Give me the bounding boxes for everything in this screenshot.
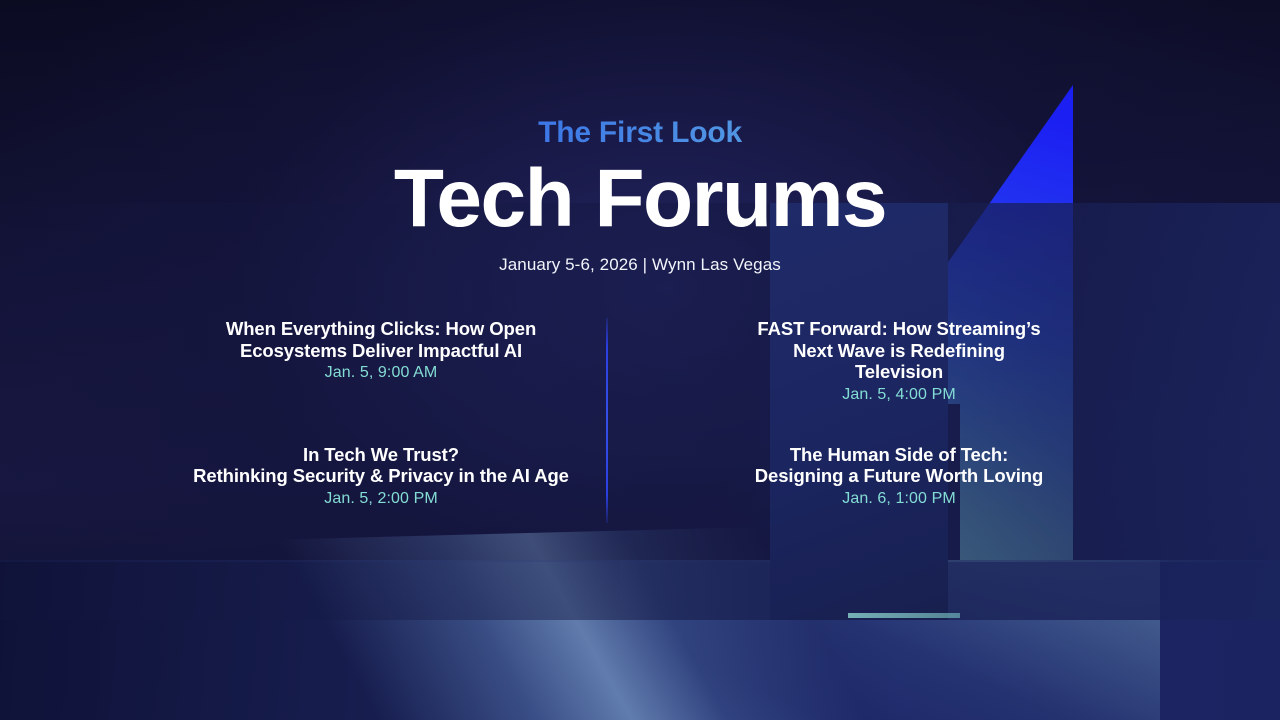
session-title-line: FAST Forward: How Streaming’s	[682, 318, 1116, 340]
session-card[interactable]: FAST Forward: How Streaming’s Next Wave …	[668, 318, 1130, 424]
session-time: Jan. 5, 9:00 AM	[150, 364, 612, 382]
session-card[interactable]: The Human Side of Tech: Designing a Futu…	[668, 444, 1130, 508]
session-title: FAST Forward: How Streaming’s Next Wave …	[668, 318, 1130, 383]
session-title-line: Rethinking Security & Privacy in the AI …	[150, 465, 612, 487]
session-time: Jan. 5, 2:00 PM	[150, 490, 612, 508]
session-title-line: Next Wave is Redefining	[682, 340, 1116, 362]
session-grid: When Everything Clicks: How Open Ecosyst…	[150, 318, 1130, 528]
session-title-line: The Human Side of Tech:	[674, 444, 1124, 466]
session-card[interactable]: In Tech We Trust? Rethinking Security & …	[150, 444, 612, 508]
session-title-line: Television	[682, 361, 1116, 383]
session-title: In Tech We Trust? Rethinking Security & …	[150, 444, 612, 487]
session-title-line: In Tech We Trust?	[150, 444, 612, 466]
session-title-line: Ecosystems Deliver Impactful AI	[150, 340, 612, 362]
session-title: When Everything Clicks: How Open Ecosyst…	[150, 318, 612, 361]
event-date-venue: January 5-6, 2026 | Wynn Las Vegas	[0, 255, 1280, 275]
session-time: Jan. 5, 4:00 PM	[668, 386, 1130, 404]
session-title-line: When Everything Clicks: How Open	[150, 318, 612, 340]
session-title: The Human Side of Tech: Designing a Futu…	[668, 444, 1130, 487]
event-kicker: The First Look	[0, 116, 1280, 150]
slide-content: The First Look Tech Forums January 5-6, …	[0, 0, 1280, 720]
session-time: Jan. 6, 1:00 PM	[668, 490, 1130, 508]
slide-canvas: The First Look Tech Forums January 5-6, …	[0, 0, 1280, 720]
page-title: Tech Forums	[0, 158, 1280, 240]
session-card[interactable]: When Everything Clicks: How Open Ecosyst…	[150, 318, 612, 424]
session-title-line: Designing a Future Worth Loving	[674, 465, 1124, 487]
